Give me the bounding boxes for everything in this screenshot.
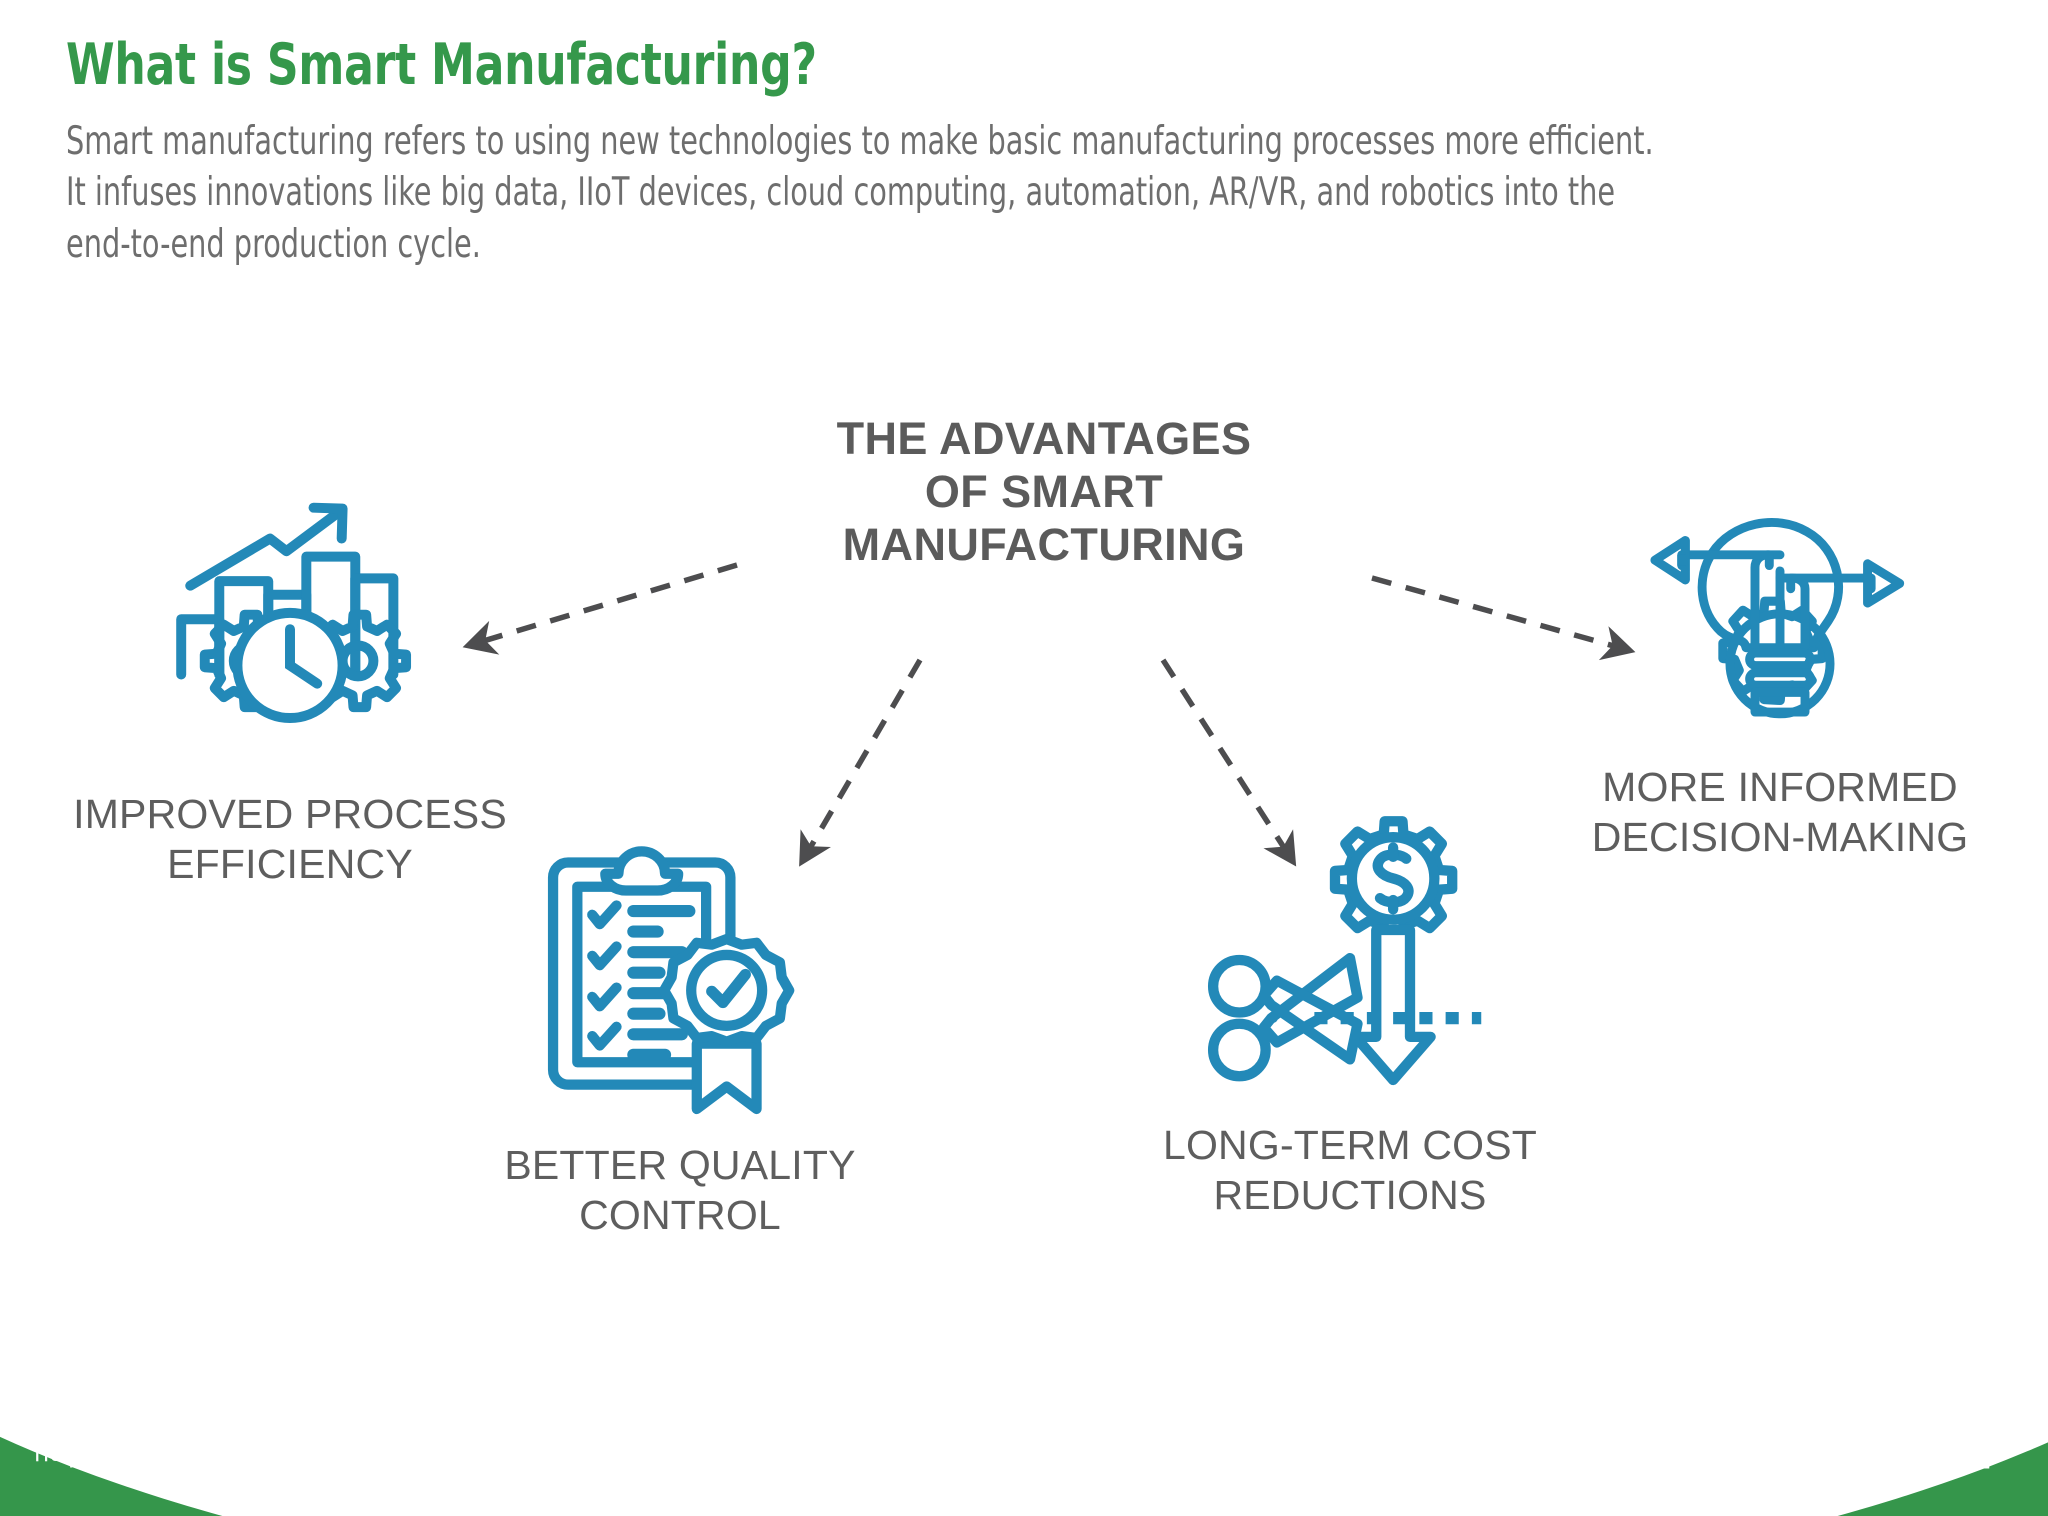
l2l-logo: L2L xyxy=(1880,1364,1992,1474)
page-title: What is Smart Manufacturing? xyxy=(66,36,1734,96)
center-heading-line-3: MANUFACTURING xyxy=(764,518,1324,571)
down-arrow-shape xyxy=(1356,930,1431,1080)
bar-chart-gears-clock-icon xyxy=(154,495,426,767)
center-heading-line-2: OF SMART xyxy=(764,465,1324,518)
center-heading-line-1: THE ADVANTAGES xyxy=(764,412,1324,465)
infographic-page: What is Smart Manufacturing? Smart manuf… xyxy=(0,0,2048,1516)
node-long-term-cost-reductions: LONG-TERM COST REDUCTIONS xyxy=(1100,810,1600,1220)
node-improved-process-efficiency: IMPROVED PROCESS EFFICIENCY xyxy=(20,495,560,889)
clipboard-checklist-award-icon xyxy=(540,842,820,1122)
footer: https://www.l2l.com/blog/smart-manufactu… xyxy=(0,1244,2048,1516)
l2l-logo-text: L2L xyxy=(1880,1405,1990,1474)
scissors-dollar-gear-down-arrow-icon xyxy=(1200,810,1500,1110)
lightbulb-gear-arrows-icon xyxy=(1646,478,1914,746)
node-label-long-term-cost-reductions: LONG-TERM COST REDUCTIONS xyxy=(1100,1120,1600,1220)
footer-url[interactable]: https://www.l2l.com/blog/smart-manufactu… xyxy=(34,1433,594,1469)
node-more-informed-decision-making: MORE INFORMED DECISION-MAKING xyxy=(1520,478,2040,862)
page-subtitle: Smart manufacturing refers to using new … xyxy=(66,116,1673,270)
footer-curve-cutout xyxy=(0,1244,2048,1516)
award-ribbon-tails xyxy=(697,1044,757,1109)
header: What is Smart Manufacturing? Smart manuf… xyxy=(66,36,2006,270)
node-label-better-quality-control: BETTER QUALITY CONTROL xyxy=(400,1140,960,1240)
center-heading: THE ADVANTAGES OF SMART MANUFACTURING xyxy=(764,412,1324,571)
arrow-to-better-quality-control xyxy=(803,660,920,860)
node-better-quality-control: BETTER QUALITY CONTROL xyxy=(400,842,960,1240)
